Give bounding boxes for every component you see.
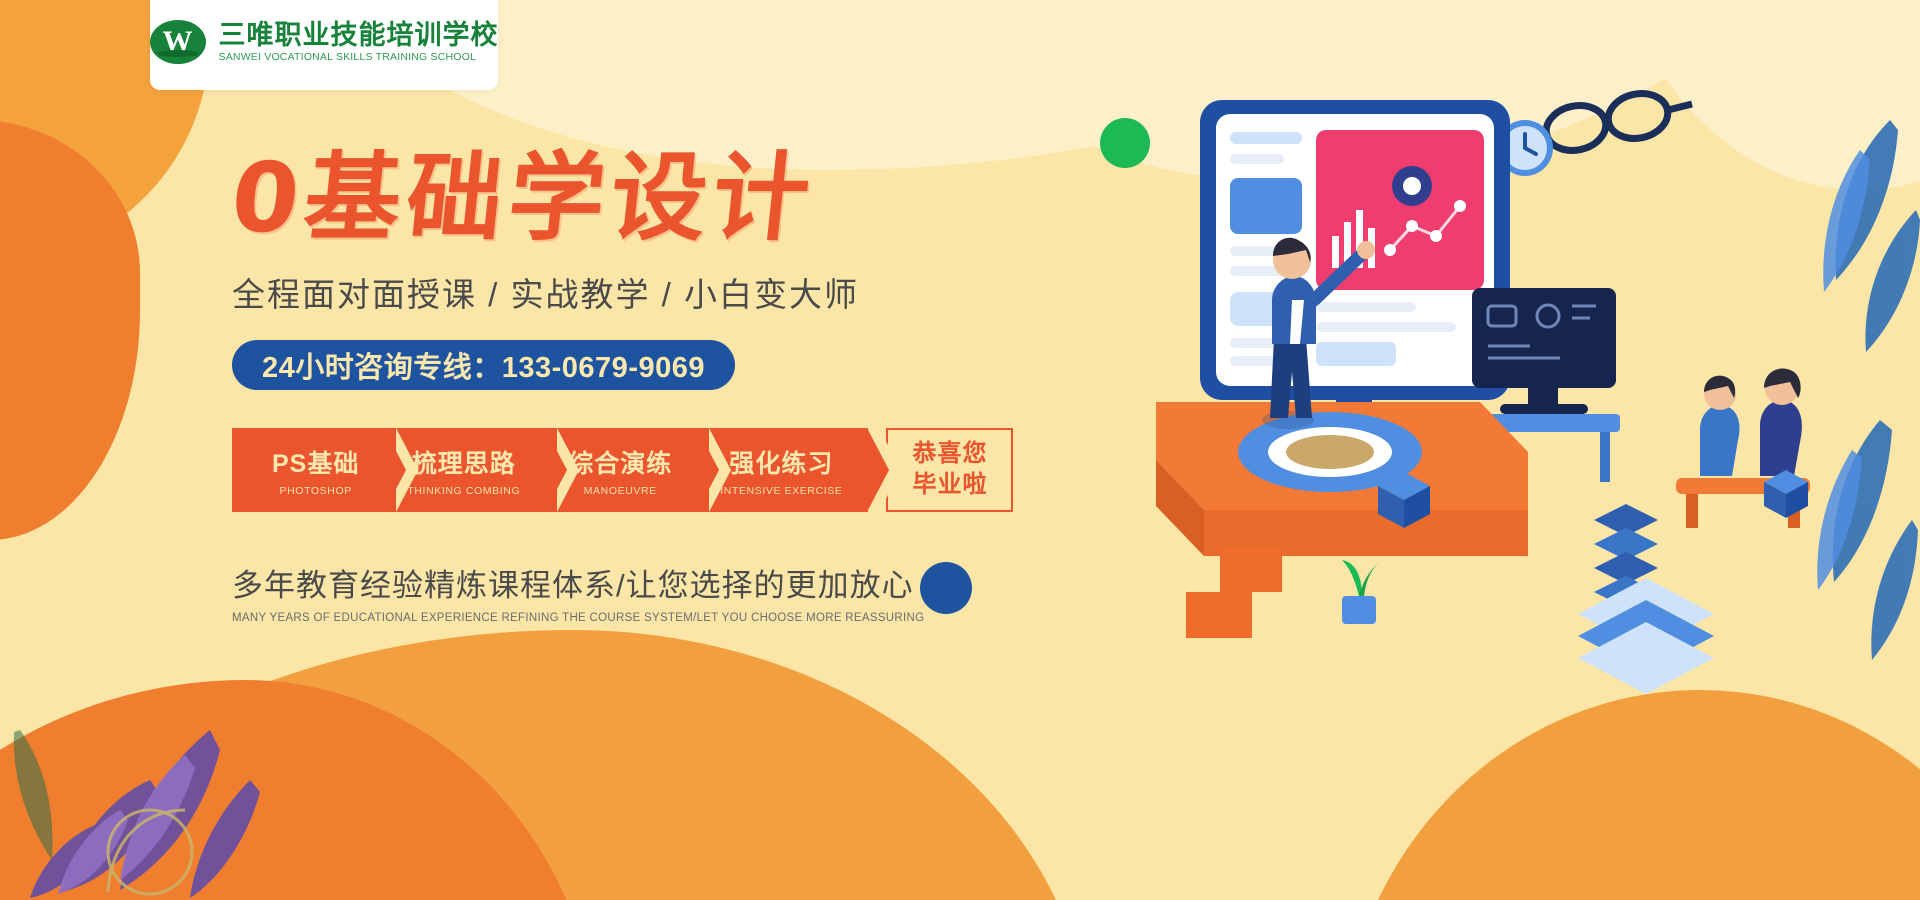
course-steps: PS基础 PHOTOSHOP 梳理思路 THINKING COMBING 综合演… <box>232 428 972 512</box>
hero-subtitle: 全程面对面授课 / 实战教学 / 小白变大师 <box>232 268 972 316</box>
tagline-cn: 多年教育经验精炼课程体系/让您选择的更加放心 <box>232 560 972 605</box>
graduation-badge: 恭喜您 毕业啦 <box>886 428 1013 512</box>
graduation-line-1: 恭喜您 <box>912 439 987 470</box>
illustration-designer-scene <box>1060 0 1920 900</box>
step-label-cn: 综合演练 <box>568 444 672 480</box>
hero-content: 0基础学设计 全程面对面授课 / 实战教学 / 小白变大师 24小时咨询专线：1… <box>232 150 972 624</box>
school-name-en: SANWEI VOCATIONAL SKILLS TRAINING SCHOOL <box>219 51 499 63</box>
glasses-icon <box>1542 88 1692 156</box>
plant-decoration <box>1342 560 1380 624</box>
logo-letter-w: W <box>163 27 193 57</box>
layered-cards-decoration <box>1578 578 1714 694</box>
background-blob-left-deep <box>0 120 140 540</box>
step-label-cn: PS基础 <box>272 444 359 480</box>
promo-banner: W 三唯职业技能培训学校 SANWEI VOCATIONAL SKILLS TR… <box>0 0 1920 900</box>
step-label-cn: 梳理思路 <box>412 444 516 480</box>
school-w-emblem-icon: W <box>150 20 206 64</box>
step-label-cn: 强化练习 <box>729 444 833 480</box>
step-label-en: MANOEUVRE <box>584 485 657 497</box>
graduation-line-2: 毕业啦 <box>912 470 987 501</box>
step-item[interactable]: PS基础 PHOTOSHOP <box>232 428 385 512</box>
block-decoration <box>1186 548 1282 638</box>
footer-tagline: 多年教育经验精炼课程体系/让您选择的更加放心 MANY YEARS OF EDU… <box>232 560 972 624</box>
logo-text-block: 三唯职业技能培训学校 SANWEI VOCATIONAL SKILLS TRAI… <box>219 21 499 63</box>
hotline-button[interactable]: 24小时咨询专线：133-0679-9069 <box>232 340 735 390</box>
page-title: 0基础学设计 <box>227 150 977 246</box>
hotline-label: 24小时咨询专线：133-0679-9069 <box>262 344 705 386</box>
tagline-en: MANY YEARS OF EDUCATIONAL EXPERIENCE REF… <box>232 612 972 624</box>
step-label-en: THINKING COMBING <box>407 485 520 497</box>
step-label-en: PHOTOSHOP <box>280 485 352 497</box>
school-name-cn: 三唯职业技能培训学校 <box>219 21 499 49</box>
step-label-en: INTENSIVE EXERCISE <box>720 485 842 497</box>
school-logo[interactable]: W 三唯职业技能培训学校 SANWEI VOCATIONAL SKILLS TR… <box>150 0 498 90</box>
